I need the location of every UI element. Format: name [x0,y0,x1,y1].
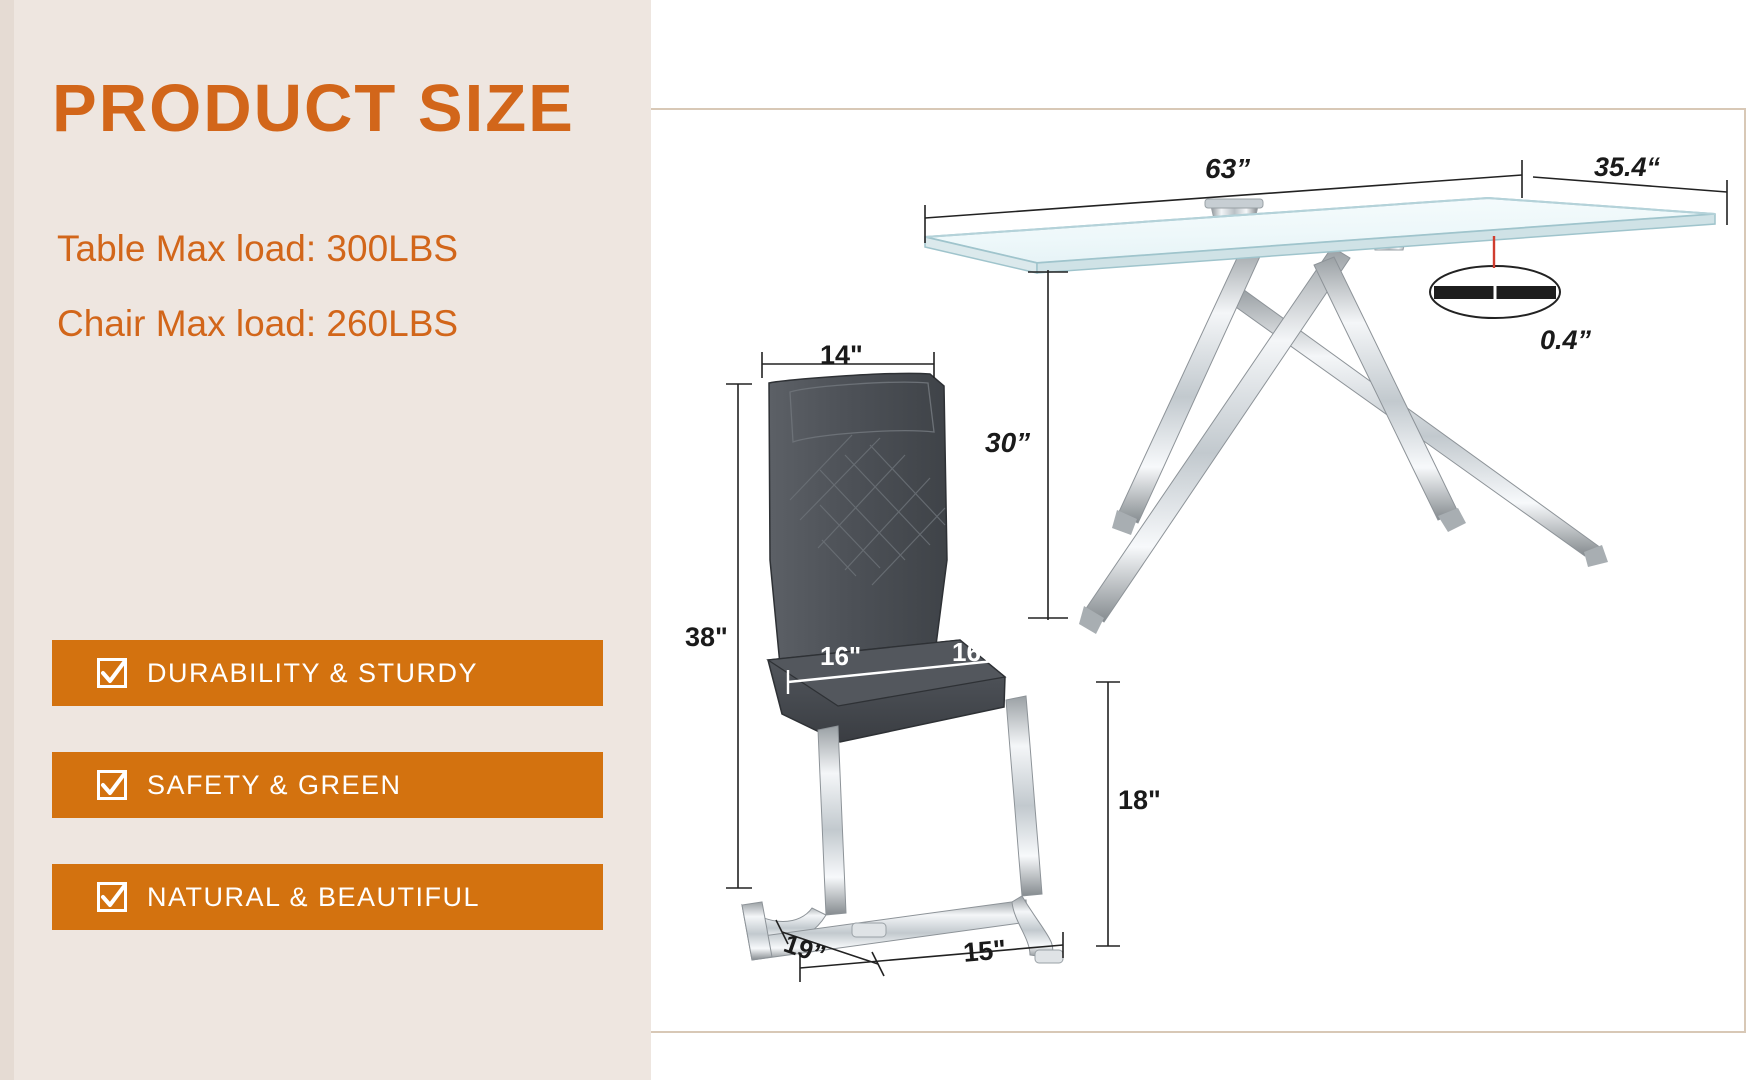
feature-badge-natural: NATURAL & BEAUTIFUL [52,864,603,930]
chair-max-load-text: Chair Max load: 260LBS [57,303,458,345]
seat-width-left-label: 16" [820,641,861,672]
chair-total-height-label: 38" [685,622,728,653]
table-height-label: 30” [985,427,1030,459]
table-depth-label: 35.4“ [1594,152,1660,183]
feature-label: DURABILITY & STURDY [147,658,478,689]
feature-label: NATURAL & BEAUTIFUL [147,882,480,913]
top-divider-line [651,108,1746,110]
base-width-label: 15" [962,934,1007,969]
chair-back-width-label: 14" [820,340,863,371]
feature-badge-safety: SAFETY & GREEN [52,752,603,818]
page-title: PRODUCT SIZE [52,70,575,147]
checkbox-checked-icon [97,658,127,688]
left-edge-strip [0,0,14,1080]
left-info-panel: PRODUCT SIZE Table Max load: 300LBS Chai… [0,0,651,1080]
right-diagram-panel [651,0,1746,1080]
bottom-divider-line [651,1031,1746,1033]
seat-width-right-label: 16" [952,637,993,668]
checkbox-checked-icon [97,770,127,800]
table-width-label: 63” [1205,153,1250,185]
checkbox-checked-icon [97,882,127,912]
feature-label: SAFETY & GREEN [147,770,402,801]
seat-height-label: 18" [1118,785,1161,816]
glass-thickness-label: 0.4” [1540,325,1591,356]
product-size-infographic: PRODUCT SIZE Table Max load: 300LBS Chai… [0,0,1746,1080]
feature-badge-durability: DURABILITY & STURDY [52,640,603,706]
table-max-load-text: Table Max load: 300LBS [57,228,458,270]
